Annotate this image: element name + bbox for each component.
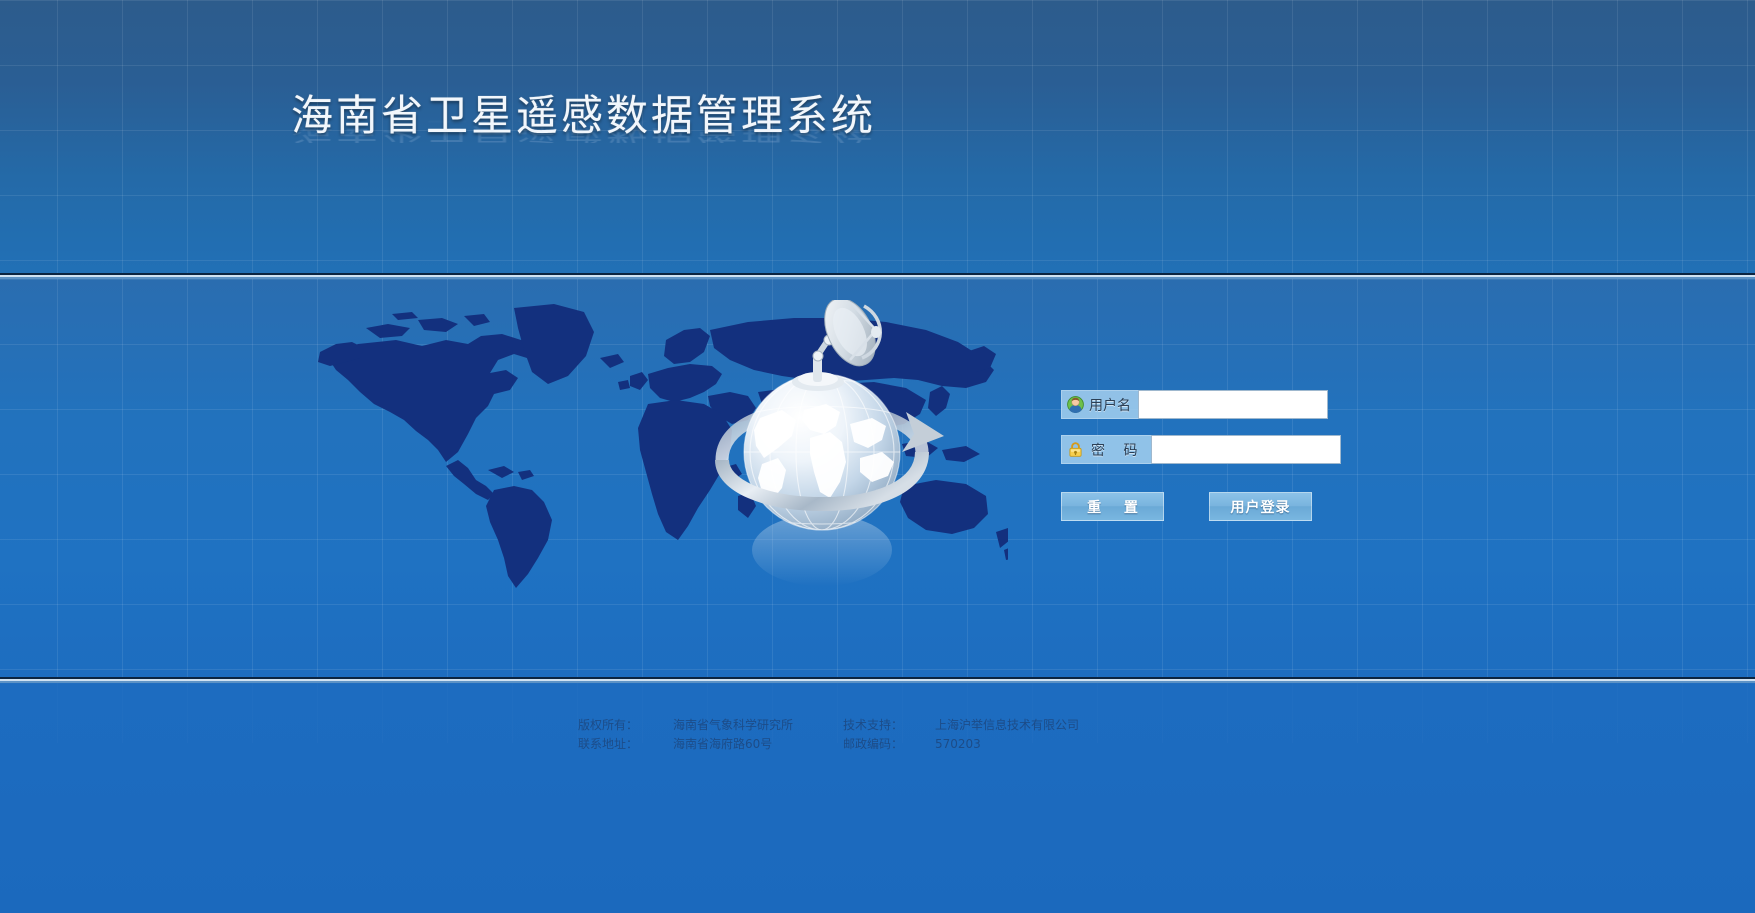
copyright-value: 海南省气象科学研究所 <box>673 716 843 735</box>
footer-row: 联系地址： 海南省海府路60号 邮政编码： 570203 <box>578 735 1079 754</box>
postcode-label: 邮政编码： <box>843 735 935 754</box>
system-title-reflection: 海南省卫星遥感数据管理系统 <box>291 117 876 143</box>
password-row: 密 码 <box>1061 435 1351 464</box>
username-label: 用户名 <box>1089 395 1131 415</box>
page-title: 海南省卫星遥感数据管理系统 海南省卫星遥感数据管理系统 <box>291 95 876 185</box>
password-label-chip: 密 码 <box>1061 435 1151 464</box>
grid-pattern-overlay <box>0 0 1755 274</box>
copyright-label: 版权所有： <box>578 716 673 735</box>
login-form: 用户名 密 码 重 置 用户登录 <box>1061 390 1351 521</box>
login-button[interactable]: 用户登录 <box>1209 492 1312 521</box>
divider-top <box>0 273 1755 279</box>
password-input[interactable] <box>1151 435 1341 464</box>
address-label: 联系地址： <box>578 735 673 754</box>
reset-button[interactable]: 重 置 <box>1061 492 1164 521</box>
form-buttons: 重 置 用户登录 <box>1061 492 1351 521</box>
login-page: 海南省卫星遥感数据管理系统 海南省卫星遥感数据管理系统 <box>0 0 1755 913</box>
divider-bottom <box>0 677 1755 683</box>
password-label: 密 码 <box>1089 440 1144 460</box>
address-value: 海南省海府路60号 <box>673 735 843 754</box>
footer-info: 版权所有： 海南省气象科学研究所 技术支持： 上海沪举信息技术有限公司 联系地址… <box>578 716 1079 754</box>
lock-icon <box>1067 441 1084 458</box>
globe-satellite-graphic <box>700 300 950 600</box>
support-value: 上海沪举信息技术有限公司 <box>935 716 1079 735</box>
header-band <box>0 0 1755 274</box>
user-avatar-icon <box>1067 396 1084 413</box>
username-input[interactable] <box>1138 390 1328 419</box>
support-label: 技术支持： <box>843 716 935 735</box>
postcode-value: 570203 <box>935 735 1079 754</box>
footer-row: 版权所有： 海南省气象科学研究所 技术支持： 上海沪举信息技术有限公司 <box>578 716 1079 735</box>
username-row: 用户名 <box>1061 390 1351 419</box>
username-label-chip: 用户名 <box>1061 390 1138 419</box>
